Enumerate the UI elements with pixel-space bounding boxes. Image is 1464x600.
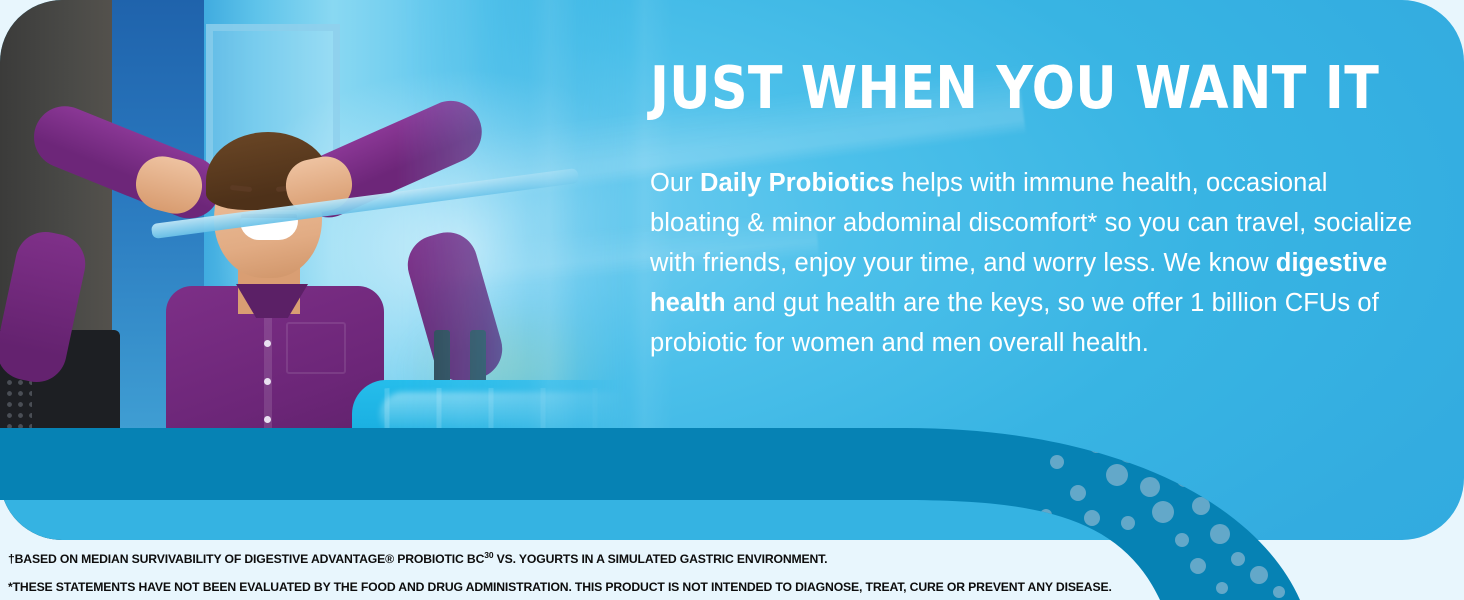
person-shirt-button [264,378,271,385]
photo-red-bag [14,436,84,502]
person-shirt-pocket [286,322,346,374]
silver-suitcase-ribs [196,478,504,540]
teal-luggage-handle-post [470,330,486,386]
person-shirt-button [264,340,271,347]
teal-luggage-handle-post [434,330,450,386]
footnotes: †BASED ON MEDIAN SURVIVABILITY OF DIGEST… [8,548,1348,594]
teal-suitcase-highlight [380,392,640,438]
promo-banner: JUST WHEN YOU WANT IT Our Daily Probioti… [0,0,1464,600]
person-shirt-placket [264,300,272,450]
hero-photo [0,0,640,540]
banner-card: JUST WHEN YOU WANT IT Our Daily Probioti… [0,0,1464,540]
copy-block: JUST WHEN YOU WANT IT Our Daily Probioti… [650,58,1430,363]
person-shirt-button [264,416,271,423]
footnote-survivability: †BASED ON MEDIAN SURVIVABILITY OF DIGEST… [8,548,1328,566]
page-title: JUST WHEN YOU WANT IT [650,58,1321,117]
body-paragraph: Our Daily Probiotics helps with immune h… [650,163,1422,363]
footnote-fda-disclaimer: *THESE STATEMENTS HAVE NOT BEEN EVALUATE… [8,580,1328,594]
